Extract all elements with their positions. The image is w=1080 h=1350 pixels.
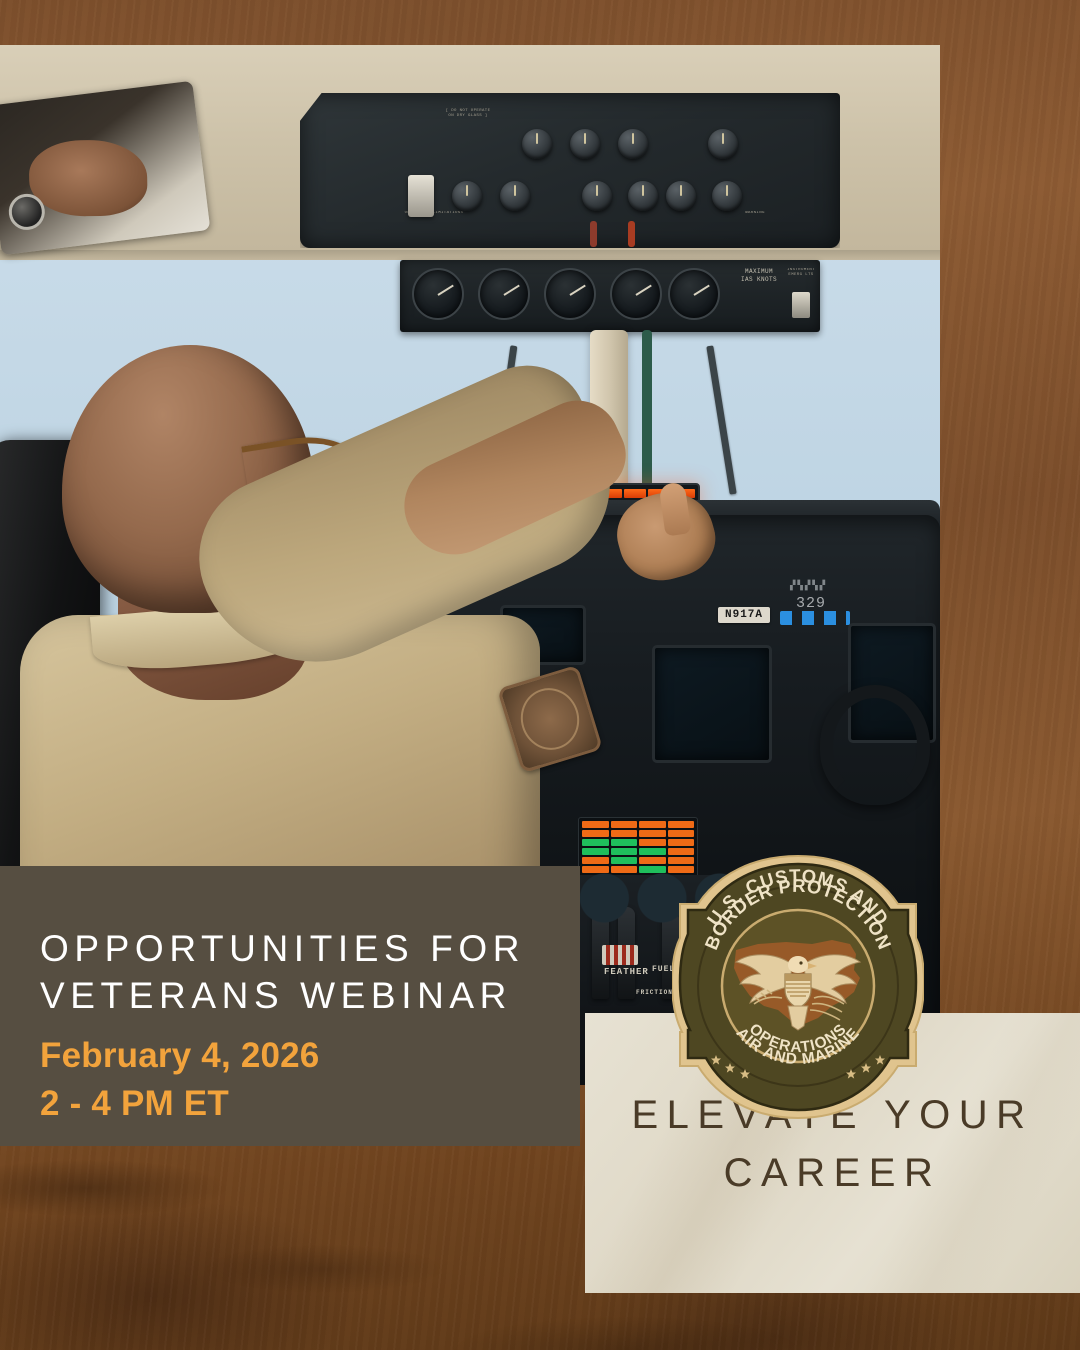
webinar-time: 2 - 4 PM ET (40, 1081, 580, 1127)
knob-flt-displays (500, 181, 530, 211)
webinar-heading-line1: OPPORTUNITIES FOR (40, 926, 580, 973)
overhead-gauge-strip: MAXIMUM IAS KNOTS INSTRUMENT EMERG LTS (400, 260, 820, 332)
fuel-control-lever-left (590, 221, 597, 247)
blue-indicator-lights (780, 611, 850, 625)
shoulder-patch-ring (513, 681, 587, 757)
knob-pilot-evrs (522, 129, 552, 159)
knob-copilot-displays (666, 181, 696, 211)
cbp-air-and-marine-operations-seal: U.S. CUSTOMS AND BORDER PROTECTION AIR A… (672, 852, 924, 1124)
panel-stencil-right: ▞▚▞▚▞ (790, 581, 827, 591)
feather-gate-stripes (602, 945, 638, 965)
gauge-4 (610, 268, 662, 320)
knob-cabin-temp (582, 181, 612, 211)
knob-pilot-displays (452, 181, 482, 211)
placard-do-not-operate: [ DO NOT OPERATE ON DRY GLASS ] (428, 109, 508, 119)
copilot-display (652, 645, 772, 763)
placard-warning: WARNING (720, 211, 790, 216)
event-info-panel: OPPORTUNITIES FOR VETERANS WEBINAR Febru… (0, 866, 580, 1146)
master-panel-lights-switch (408, 175, 434, 217)
aircraft-registration-tag: N917A (718, 607, 770, 623)
knob-annun-test (708, 129, 738, 159)
overhead-window-reflection (0, 81, 210, 255)
label-feather: FEATHER (604, 967, 649, 977)
gauge-1 (412, 268, 464, 320)
knob-instr-select (570, 129, 600, 159)
gauge-2 (478, 268, 530, 320)
webinar-date: February 4, 2026 (40, 1033, 580, 1079)
center-post-seal (642, 330, 652, 502)
copilot-control-yoke (820, 685, 930, 805)
webinar-heading-line2: VETERANS WEBINAR (40, 973, 580, 1020)
reflected-hand (29, 139, 148, 217)
knob-start-gen (712, 181, 742, 211)
overhead-switch-panel: [ DO NOT OPERATE ON DRY GLASS ] OPERATIN… (300, 93, 840, 248)
gauge-prop-amps (668, 268, 720, 320)
aircraft-number: 329 (796, 595, 826, 612)
fuel-control-lever-right (628, 221, 635, 247)
emerg-lights-switch (792, 292, 810, 318)
knob-eng-fuel (628, 181, 658, 211)
gauge-3 (544, 268, 596, 320)
tagline-line2: CAREER (631, 1144, 1033, 1202)
knob-copilot-evrs (618, 129, 648, 159)
placard-instrument-emerg-lts: INSTRUMENT EMERG LTS (782, 268, 820, 278)
placard-maximum-ias-knots: MAXIMUM IAS KNOTS (730, 268, 788, 283)
